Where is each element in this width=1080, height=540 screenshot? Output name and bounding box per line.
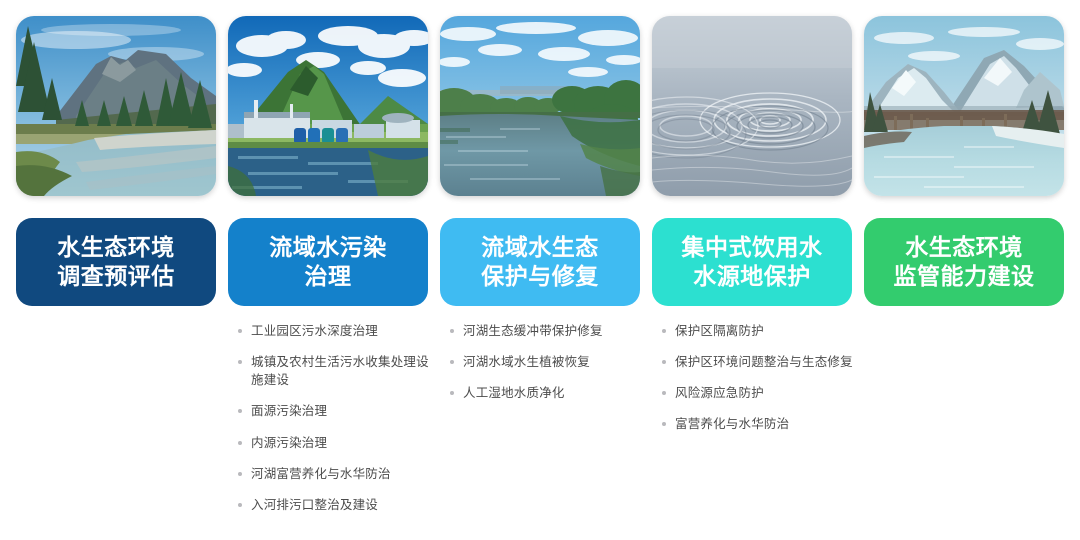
snow-mountain-river-photo bbox=[864, 16, 1064, 196]
program-title-card-2[interactable]: 流域水污染 治理 bbox=[228, 218, 428, 306]
program-bullet-list-3: 河湖生态缓冲带保护修复 河湖水域水生植被恢复 人工湿地水质净化 bbox=[450, 322, 650, 415]
list-item-label: 河湖富营养化与水华防治 bbox=[251, 465, 438, 483]
program-column-1: 水生态环境 调查预评估 bbox=[16, 0, 216, 540]
list-item-label: 入河排污口整治及建设 bbox=[251, 496, 438, 514]
list-item: 河湖水域水生植被恢复 bbox=[450, 353, 650, 371]
bullet-dot-icon bbox=[238, 503, 242, 507]
list-item-label: 工业园区污水深度治理 bbox=[251, 322, 438, 340]
bullet-dot-icon bbox=[238, 472, 242, 476]
bullet-dot-icon bbox=[450, 391, 454, 395]
bullet-dot-icon bbox=[238, 409, 242, 413]
program-title-line: 治理 bbox=[269, 262, 387, 291]
program-title-line: 集中式饮用水 bbox=[682, 233, 823, 262]
bullet-dot-icon bbox=[450, 329, 454, 333]
list-item: 入河排污口整治及建设 bbox=[238, 496, 438, 514]
bullet-dot-icon bbox=[662, 360, 666, 364]
list-item: 保护区环境问题整治与生态修复 bbox=[662, 353, 862, 371]
water-ecology-program-overview: 水生态环境 调查预评估 bbox=[0, 0, 1080, 540]
water-treatment-plant-photo bbox=[228, 16, 428, 196]
bullet-dot-icon bbox=[238, 441, 242, 445]
program-column-3: 流域水生态 保护与修复 河湖生态缓冲带保护修复 河湖水域水生植被恢复 人工湿地水… bbox=[440, 0, 640, 540]
bullet-dot-icon bbox=[662, 329, 666, 333]
bullet-dot-icon bbox=[662, 391, 666, 395]
list-item-label: 内源污染治理 bbox=[251, 434, 438, 452]
program-title-card-3[interactable]: 流域水生态 保护与修复 bbox=[440, 218, 640, 306]
program-title-line: 监管能力建设 bbox=[894, 262, 1035, 291]
program-column-2: 流域水污染 治理 工业园区污水深度治理 城镇及农村生活污水收集处理设施建设 面源… bbox=[228, 0, 428, 540]
program-column-4: 集中式饮用水 水源地保护 保护区隔离防护 保护区环境问题整治与生态修复 风险源应… bbox=[652, 0, 852, 540]
program-column-5: 水生态环境 监管能力建设 bbox=[864, 0, 1064, 540]
program-title-line: 水生态环境 bbox=[57, 233, 175, 262]
list-item-label: 河湖生态缓冲带保护修复 bbox=[463, 322, 650, 340]
list-item: 城镇及农村生活污水收集处理设施建设 bbox=[238, 353, 438, 389]
program-title-card-4[interactable]: 集中式饮用水 水源地保护 bbox=[652, 218, 852, 306]
program-bullet-list-4: 保护区隔离防护 保护区环境问题整治与生态修复 风险源应急防护 富营养化与水华防治 bbox=[662, 322, 862, 447]
list-item-label: 面源污染治理 bbox=[251, 402, 438, 420]
list-item-label: 风险源应急防护 bbox=[675, 384, 862, 402]
list-item: 河湖富营养化与水华防治 bbox=[238, 465, 438, 483]
list-item: 保护区隔离防护 bbox=[662, 322, 862, 340]
bullet-dot-icon bbox=[450, 360, 454, 364]
program-title-line: 保护与修复 bbox=[481, 262, 599, 291]
list-item: 内源污染治理 bbox=[238, 434, 438, 452]
list-item-label: 保护区环境问题整治与生态修复 bbox=[675, 353, 862, 371]
list-item-label: 富营养化与水华防治 bbox=[675, 415, 862, 433]
list-item: 面源污染治理 bbox=[238, 402, 438, 420]
program-title-line: 流域水生态 bbox=[481, 233, 599, 262]
program-title-card-5[interactable]: 水生态环境 监管能力建设 bbox=[864, 218, 1064, 306]
river-wetland-vegetation-photo bbox=[440, 16, 640, 196]
list-item-label: 保护区隔离防护 bbox=[675, 322, 862, 340]
program-title-card-1[interactable]: 水生态环境 调查预评估 bbox=[16, 218, 216, 306]
water-ripples-photo bbox=[652, 16, 852, 196]
program-title-line: 调查预评估 bbox=[57, 262, 175, 291]
program-title-line: 流域水污染 bbox=[269, 233, 387, 262]
list-item: 人工湿地水质净化 bbox=[450, 384, 650, 402]
bullet-dot-icon bbox=[662, 422, 666, 426]
program-title-line: 水生态环境 bbox=[894, 233, 1035, 262]
program-title-line: 水源地保护 bbox=[682, 262, 823, 291]
list-item: 河湖生态缓冲带保护修复 bbox=[450, 322, 650, 340]
list-item: 富营养化与水华防治 bbox=[662, 415, 862, 433]
program-bullet-list-2: 工业园区污水深度治理 城镇及农村生活污水收集处理设施建设 面源污染治理 内源污染… bbox=[238, 322, 438, 527]
list-item-label: 河湖水域水生植被恢复 bbox=[463, 353, 650, 371]
list-item-label: 城镇及农村生活污水收集处理设施建设 bbox=[251, 353, 438, 389]
mountain-river-forest-photo bbox=[16, 16, 216, 196]
list-item: 工业园区污水深度治理 bbox=[238, 322, 438, 340]
list-item: 风险源应急防护 bbox=[662, 384, 862, 402]
bullet-dot-icon bbox=[238, 360, 242, 364]
list-item-label: 人工湿地水质净化 bbox=[463, 384, 650, 402]
bullet-dot-icon bbox=[238, 329, 242, 333]
